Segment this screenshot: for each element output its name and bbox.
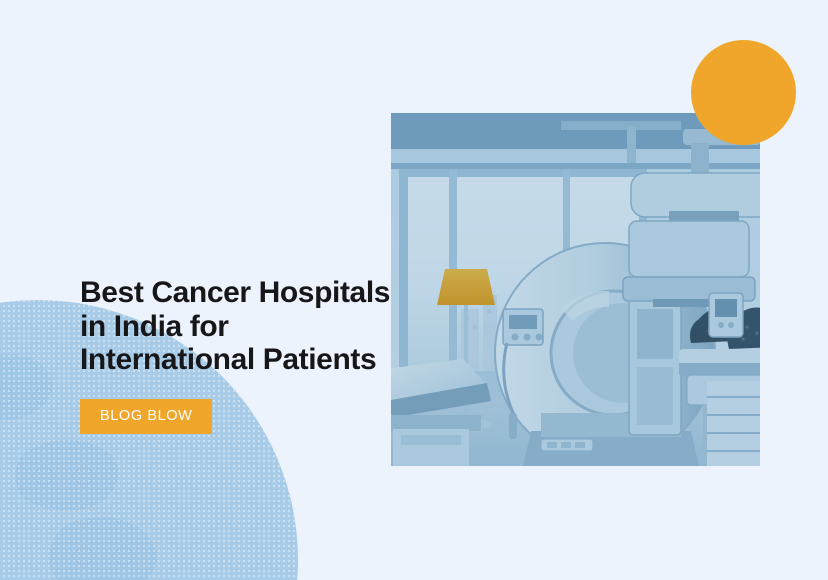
hospital-photo [391, 113, 760, 466]
banner-text-block: Best Cancer Hospitals in India for Inter… [80, 276, 400, 434]
radiology-room-illustration [391, 113, 760, 466]
orange-circle [691, 40, 796, 145]
headline-line-2: in India for [80, 310, 400, 344]
page-title: Best Cancer Hospitals in India for Inter… [80, 276, 400, 377]
blog-banner: Best Cancer Hospitals in India for Inter… [0, 0, 828, 580]
headline-line-1: Best Cancer Hospitals [80, 276, 400, 310]
headline-line-3: International Patients [80, 343, 400, 377]
blog-blow-button[interactable]: BLOG BLOW [80, 399, 212, 434]
